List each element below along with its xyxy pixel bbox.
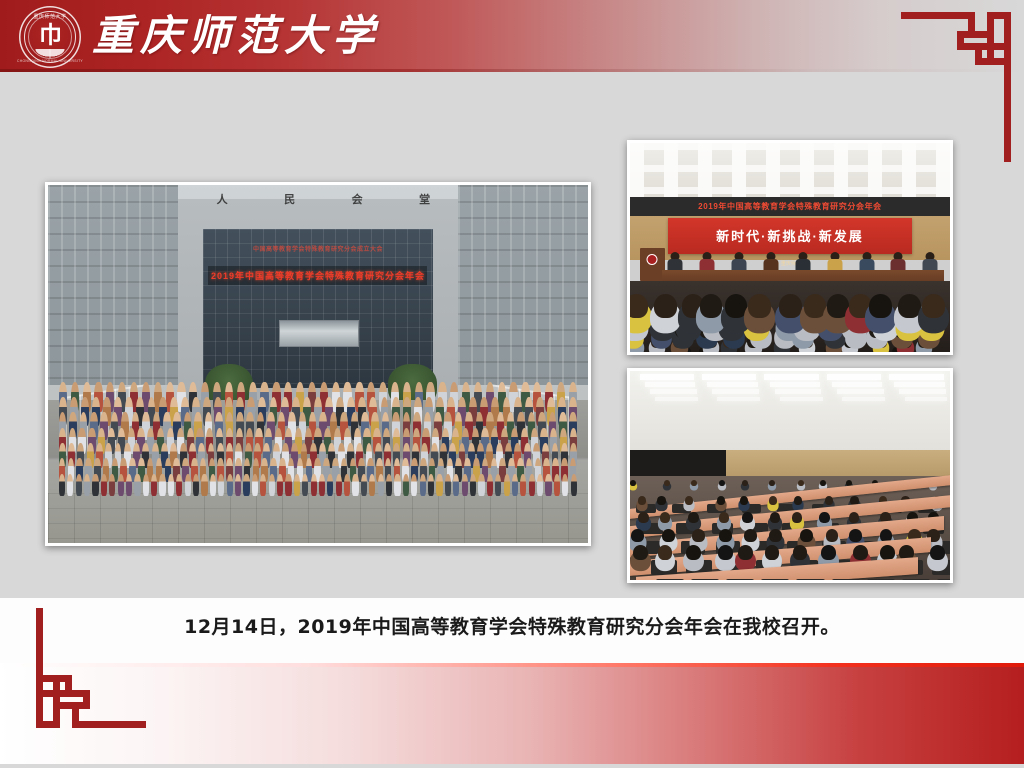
crowd-person bbox=[67, 474, 73, 497]
lecture-chair bbox=[832, 579, 860, 583]
seated-attendee bbox=[688, 512, 698, 523]
crowd-person bbox=[210, 474, 216, 497]
roof-characters: 人 民 会 堂 bbox=[188, 185, 458, 214]
seated-attendee bbox=[719, 480, 725, 486]
crowd-person bbox=[520, 474, 526, 497]
seated-attendee bbox=[740, 496, 748, 505]
crowd-person bbox=[109, 474, 115, 497]
crowd-person bbox=[571, 474, 577, 497]
crowd-person bbox=[554, 474, 560, 497]
group-photo-crowd bbox=[59, 375, 577, 497]
audience-head bbox=[779, 294, 802, 318]
audience-head bbox=[827, 294, 850, 318]
seated-attendee bbox=[691, 480, 697, 486]
building-wing-right bbox=[458, 185, 588, 385]
lecture-chair bbox=[672, 504, 691, 513]
crowd-person bbox=[151, 474, 157, 497]
crowd-person bbox=[529, 474, 535, 497]
led-banner-top: 中国高等教育学会特殊教育研究分会成立大会 bbox=[217, 242, 419, 255]
seated-attendee bbox=[765, 545, 780, 561]
crowd-person bbox=[101, 474, 107, 497]
plenary-session-photo: 2019年中国高等教育学会特殊教育研究分会年会 新时代·新挑战·新发展 主办·重… bbox=[627, 140, 953, 355]
crowd-person bbox=[394, 474, 400, 497]
seated-attendee bbox=[685, 496, 693, 505]
crowd-person bbox=[252, 474, 258, 497]
seated-attendee bbox=[742, 480, 748, 486]
seated-attendee bbox=[849, 512, 859, 523]
crowd-person bbox=[411, 474, 417, 497]
slide-bottom-edge bbox=[0, 764, 1024, 768]
crowd-person bbox=[84, 474, 90, 497]
roof-char-1: 民 bbox=[284, 191, 295, 207]
crowd-person bbox=[495, 474, 501, 497]
crowd-person bbox=[336, 474, 342, 497]
audience-hall-photo bbox=[627, 368, 953, 583]
lecture-chair bbox=[691, 579, 719, 583]
audience-head bbox=[898, 294, 921, 318]
crowd-person bbox=[260, 474, 266, 497]
crowd-person bbox=[143, 474, 149, 497]
university-logo-icon: 重庆师范大学 巾 CHONGQING NORMAL UNIVERSITY bbox=[19, 6, 81, 68]
roof-char-0: 人 bbox=[217, 191, 228, 207]
crowd-person bbox=[327, 474, 333, 497]
seated-attendee bbox=[717, 496, 725, 505]
crowd-person bbox=[302, 474, 308, 497]
lecture-chair bbox=[902, 579, 930, 583]
seated-attendee bbox=[849, 529, 862, 542]
university-wordmark: 重庆师范大学 bbox=[92, 10, 380, 62]
crowd-person bbox=[269, 474, 275, 497]
plenary-audience bbox=[630, 281, 950, 352]
roof-char-2: 会 bbox=[352, 191, 363, 207]
crowd-person bbox=[428, 474, 434, 497]
seated-attendee bbox=[825, 496, 833, 505]
lecture-chair bbox=[726, 579, 754, 583]
crowd-person bbox=[319, 474, 325, 497]
crowd-person bbox=[487, 474, 493, 497]
audience-head bbox=[725, 294, 748, 318]
slide-caption: 12月14日，2019年中国高等教育学会特殊教育研究分会年会在我校召开。 bbox=[0, 612, 1024, 639]
audience-head bbox=[731, 347, 740, 355]
seated-attendee bbox=[800, 529, 813, 542]
seated-attendee bbox=[744, 529, 757, 542]
audience-head bbox=[682, 347, 691, 355]
page-header: 重庆师范大学 巾 CHONGQING NORMAL UNIVERSITY 重庆师… bbox=[0, 0, 1024, 72]
seated-attendee bbox=[792, 512, 802, 523]
crowd-person bbox=[176, 474, 182, 497]
seated-attendee bbox=[718, 545, 733, 561]
crowd-person bbox=[243, 474, 249, 497]
audience-head bbox=[753, 347, 762, 355]
crowd-person bbox=[92, 474, 98, 497]
crowd-person bbox=[277, 474, 283, 497]
seated-attendee bbox=[798, 480, 804, 486]
plaza-pavement bbox=[48, 493, 588, 543]
crowd-person bbox=[504, 474, 510, 497]
crowd-person bbox=[352, 474, 358, 497]
seated-attendee bbox=[793, 545, 808, 561]
crowd-person bbox=[118, 474, 124, 497]
audience-head bbox=[922, 294, 945, 318]
seated-attendee bbox=[742, 512, 752, 523]
seated-attendee bbox=[769, 529, 782, 542]
seated-attendee bbox=[664, 480, 670, 486]
seated-attendee bbox=[794, 496, 802, 505]
logo-emblem-glyph: 巾 bbox=[39, 23, 61, 46]
logo-bottom-text: CHONGQING NORMAL UNIVERSITY bbox=[17, 59, 83, 63]
seated-attendee bbox=[719, 529, 732, 542]
audience-head bbox=[700, 294, 723, 318]
crowd-person bbox=[386, 474, 392, 497]
crowd-person bbox=[76, 474, 82, 497]
audience-head bbox=[654, 294, 677, 318]
seated-attendee bbox=[686, 545, 701, 561]
audience-head bbox=[655, 347, 664, 355]
lecture-chair bbox=[651, 560, 677, 574]
seated-attendee bbox=[662, 529, 675, 542]
footer-gradient-band bbox=[0, 663, 1024, 765]
crowd-person bbox=[311, 474, 317, 497]
crowd-person bbox=[159, 474, 165, 497]
seated-attendee bbox=[692, 529, 705, 542]
audience-head bbox=[869, 294, 892, 318]
lecture-chair bbox=[932, 560, 953, 574]
crowd-person bbox=[445, 474, 451, 497]
crowd-person bbox=[470, 474, 476, 497]
audience-head bbox=[892, 347, 901, 355]
seated-attendee bbox=[769, 480, 775, 486]
crowd-person bbox=[361, 474, 367, 497]
crowd-person bbox=[403, 474, 409, 497]
lecture-chair bbox=[796, 579, 824, 583]
wing-glass-right bbox=[458, 185, 588, 385]
crowd-person bbox=[562, 474, 568, 497]
crowd-person bbox=[126, 474, 132, 497]
crowd-person bbox=[344, 474, 350, 497]
audience-head bbox=[778, 347, 787, 355]
seated-attendee bbox=[660, 512, 670, 523]
crowd-row bbox=[59, 476, 577, 496]
crowd-person bbox=[537, 474, 543, 497]
led-banner-text: 2019年中国高等教育学会特殊教育研究分会年会 bbox=[211, 269, 425, 282]
seated-attendee bbox=[820, 480, 826, 486]
seated-attendee bbox=[930, 545, 945, 561]
plenary-ceiling bbox=[630, 143, 950, 206]
audience-head bbox=[918, 347, 927, 355]
roof-char-3: 堂 bbox=[419, 191, 430, 207]
wing-glass-left bbox=[48, 185, 178, 385]
slide-canvas: 重庆师范大学 巾 CHONGQING NORMAL UNIVERSITY 重庆师… bbox=[0, 0, 1024, 768]
crowd-person bbox=[201, 474, 207, 497]
crowd-person bbox=[545, 474, 551, 497]
stage-banner-text: 新时代·新挑战·新发展 bbox=[716, 226, 864, 245]
crowd-person bbox=[478, 474, 484, 497]
crowd-person bbox=[168, 474, 174, 497]
seated-attendee bbox=[769, 496, 777, 505]
lecture-chair bbox=[641, 523, 662, 534]
crowd-person bbox=[420, 474, 426, 497]
crowd-person bbox=[193, 474, 199, 497]
hall-seating bbox=[630, 371, 950, 580]
lecture-chair bbox=[761, 579, 789, 583]
conference-group-photo: 中国高等教育学会特殊教育研究分会成立大会 2019年中国高等教育学会特殊教育研究… bbox=[45, 182, 591, 546]
crowd-person bbox=[512, 474, 518, 497]
ceiling-light-grid bbox=[630, 143, 950, 206]
crowd-person bbox=[134, 474, 140, 497]
crowd-person bbox=[436, 474, 442, 497]
crowd-person bbox=[294, 474, 300, 497]
lecture-chair bbox=[656, 579, 684, 583]
audience-head bbox=[803, 347, 812, 355]
crowd-person bbox=[378, 474, 384, 497]
audience-head bbox=[627, 347, 633, 355]
building-wing-left bbox=[48, 185, 178, 385]
lecture-chair bbox=[867, 579, 895, 583]
plenary-led-banner: 2019年中国高等教育学会特殊教育研究分会年会 bbox=[649, 199, 931, 214]
crowd-person bbox=[218, 474, 224, 497]
lecture-chair bbox=[937, 579, 953, 583]
led-banner-main: 2019年中国高等教育学会特殊教育研究分会年会 bbox=[208, 266, 427, 285]
audience-head bbox=[875, 347, 884, 355]
audience-head bbox=[804, 294, 827, 318]
audience-head bbox=[824, 347, 833, 355]
seated-attendee bbox=[819, 512, 829, 523]
crowd-person bbox=[227, 474, 233, 497]
audience-head bbox=[627, 294, 648, 318]
logo-book-shape bbox=[33, 49, 67, 58]
crowd-person bbox=[453, 474, 459, 497]
stage-red-banner: 新时代·新挑战·新发展 bbox=[668, 218, 911, 254]
seated-attendee bbox=[638, 512, 648, 523]
seated-attendee bbox=[770, 512, 780, 523]
crowd-person bbox=[59, 474, 65, 497]
seated-attendee bbox=[630, 480, 636, 486]
crowd-person bbox=[185, 474, 191, 497]
seated-attendee bbox=[826, 529, 839, 542]
seated-attendee bbox=[853, 545, 868, 561]
audience-head bbox=[699, 347, 708, 355]
seated-attendee bbox=[719, 512, 729, 523]
seated-attendee bbox=[631, 529, 644, 542]
audience-head bbox=[844, 347, 853, 355]
seated-attendee bbox=[738, 545, 753, 561]
crowd-person bbox=[462, 474, 468, 497]
plenary-led-text: 2019年中国高等教育学会特殊教育研究分会年会 bbox=[698, 201, 882, 212]
crowd-person bbox=[285, 474, 291, 497]
logo-top-text: 重庆师范大学 bbox=[33, 13, 66, 20]
audience-head bbox=[748, 294, 771, 318]
building-entrance bbox=[279, 320, 360, 348]
seated-attendee bbox=[657, 496, 665, 505]
seated-attendee bbox=[638, 496, 646, 505]
seated-attendee bbox=[821, 545, 836, 561]
crowd-person bbox=[369, 474, 375, 497]
seated-attendee bbox=[633, 545, 648, 561]
seated-attendee bbox=[658, 545, 673, 561]
crowd-person bbox=[235, 474, 241, 497]
